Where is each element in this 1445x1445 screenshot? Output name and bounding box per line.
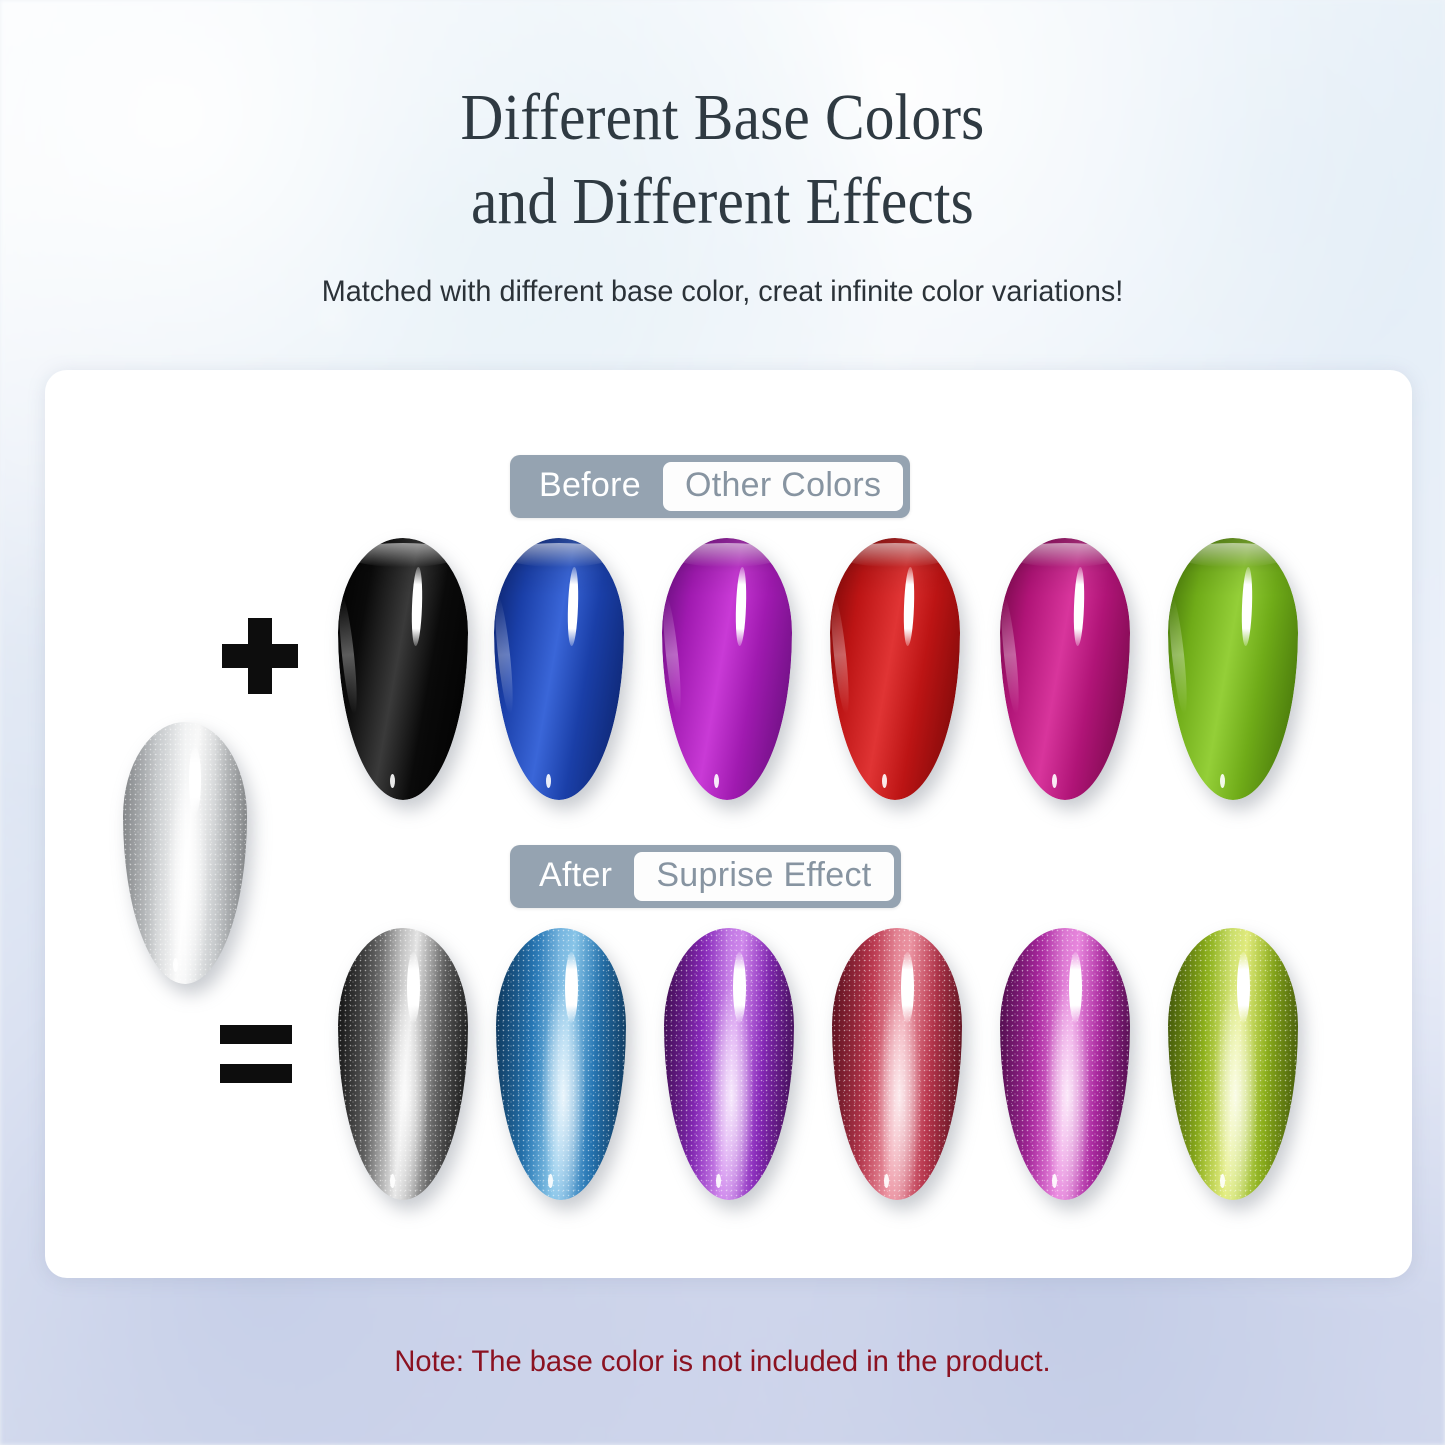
nail-tip-dot [390,1174,395,1188]
nail-glitter-texture [664,928,794,1200]
badge-before: Before Other Colors [510,455,910,518]
nail-tip-dot [548,1174,553,1188]
nail-swatch-after-blue [496,928,626,1200]
nail-swatch-after-magenta [1000,928,1130,1200]
nail-top-shine [1176,543,1290,567]
badge-before-left-label: Before [517,462,663,511]
nail-tip-dot [1220,1174,1225,1188]
nail-tip-dot [1052,1174,1057,1188]
nail-swatch-after-green [1168,928,1298,1200]
badge-after-left-label: After [517,852,634,901]
nail-glitter-texture [123,722,247,984]
disclaimer-note: Note: The base color is not included in … [22,1345,1424,1379]
nail-gloss-highlight [1237,952,1250,1023]
equals-operator-icon [220,1025,292,1083]
nail-swatch-after-purple [664,928,794,1200]
plus-operator-icon [222,618,298,694]
nail-swatch-after-red [832,928,962,1200]
nail-glitter-texture [1000,928,1130,1200]
nail-top-shine [346,543,460,567]
nail-tip-dot [716,1174,721,1188]
page-title-line-2: and Different Effects [72,160,1373,244]
nail-gloss-highlight [733,952,746,1023]
nail-tip-dot [173,958,178,972]
nail-glitter-texture [496,928,626,1200]
nail-top-shine [502,543,616,567]
nail-gloss-highlight [901,952,914,1023]
nail-tip-dot [884,1174,889,1188]
nail-top-shine [670,543,784,567]
nail-swatch-base-silver-cat-eye-base [123,722,247,984]
nail-gloss-highlight [189,746,201,814]
nail-swatch-after-silver-black [338,928,468,1200]
badge-before-right-label: Other Colors [663,462,903,511]
page-subtitle: Matched with different base color, creat… [29,275,1416,309]
nail-gloss-highlight [565,952,578,1023]
nail-top-shine [1008,543,1122,567]
nail-gloss-highlight [1069,952,1082,1023]
badge-after-right-label: Suprise Effect [634,852,893,901]
header: Different Base Colors and Different Effe… [0,76,1445,309]
badge-after: After Suprise Effect [510,845,901,908]
page-title-line-1: Different Base Colors [72,76,1373,160]
nail-glitter-texture [338,928,468,1200]
nail-glitter-texture [832,928,962,1200]
nail-gloss-highlight [407,952,420,1023]
nail-glitter-texture [1168,928,1298,1200]
nail-top-shine [838,543,952,567]
